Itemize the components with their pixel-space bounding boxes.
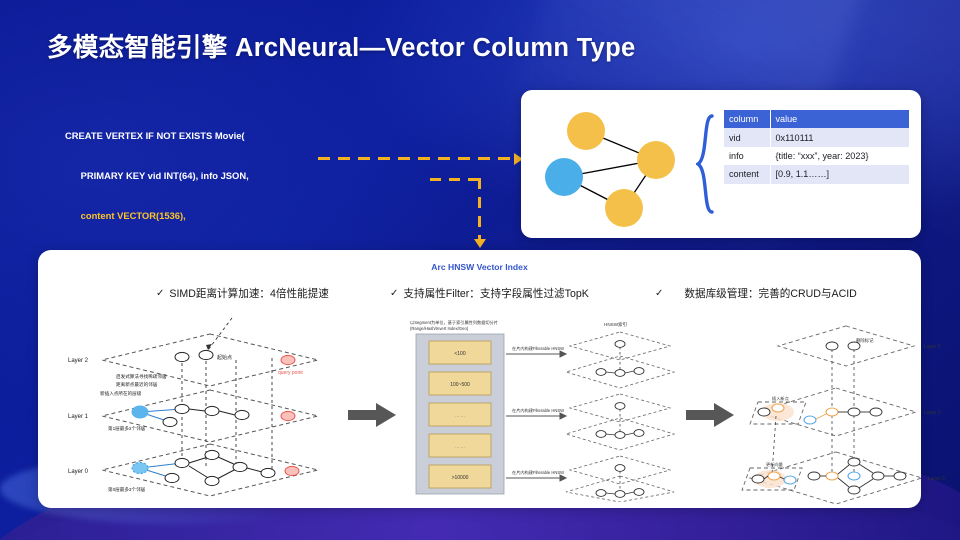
layer2-label: Layer 2	[924, 344, 941, 350]
index-label: Arc HNSW Vector Index	[38, 262, 921, 272]
dashed-arrow-down-icon	[474, 239, 486, 248]
feature-row: ✓ SIMD距离计算加速：4倍性能提速 ✓ 支持属性Filter：支持字段属性过…	[38, 286, 921, 308]
hnsw-layer-diagram-right: Layer 2 Layer 1 Layer 0 删除标记 插入新点 更新向量	[736, 316, 952, 506]
insert-level-note: 新插入点所在的层级	[100, 390, 142, 397]
insert-annotation: 插入新点	[772, 395, 789, 402]
curly-brace-icon	[696, 114, 718, 214]
sql-line-2: PRIMARY KEY vid INT(64), info JSON,	[65, 169, 249, 182]
sql-line-3: content VECTOR(1536),	[65, 209, 249, 222]
property-table: column value vid 0x110111 info {title: “…	[724, 110, 909, 184]
feature-item-management: ✓ 数据库级管理：完善的CRUD与ACID	[655, 286, 857, 301]
bucket-label: >10000	[452, 475, 469, 481]
layer1-label: Layer 1	[924, 410, 941, 416]
layer2-plane	[778, 326, 914, 366]
layer0-label: Layer 0	[68, 469, 89, 475]
layer0-label: Layer 0	[928, 476, 945, 482]
property-graph-diagram	[531, 98, 716, 230]
check-icon: ✓	[390, 288, 398, 299]
table-cell-value: {title: “xxx”, year: 2023}	[770, 147, 909, 165]
feature-item-simd: ✓ SIMD距离计算加速：4倍性能提速	[156, 286, 329, 301]
dashed-connector-branch	[430, 178, 482, 181]
start-point-annotation: 起始点	[217, 354, 232, 361]
table-header-value: value	[770, 110, 909, 128]
graph-node-blue	[545, 158, 583, 196]
table-cell-value: 0x110111	[770, 128, 909, 146]
dashed-connector-horizontal	[318, 157, 514, 160]
hnsw-index-caption: HNSW索引	[604, 321, 627, 328]
layer2-label: Layer 2	[68, 358, 89, 364]
flow-arrow-1-icon	[348, 402, 398, 428]
check-icon: ✓	[655, 288, 663, 299]
bucket-label: ... ...	[455, 413, 465, 419]
feature-label: SIMD距离计算加速：4倍性能提速	[169, 286, 329, 301]
segment-caption-line2: (Range/Hash/Invert Index/Geo)	[410, 326, 469, 331]
bucket-label: <100	[454, 351, 465, 357]
sql-line-1: CREATE VERTEX IF NOT EXISTS Movie(	[65, 129, 249, 142]
vertex-illustration-card: column value vid 0x110111 info {title: “…	[521, 90, 921, 238]
graph-node-yellow-1	[567, 112, 605, 150]
layer0-neighbor-note: 第0层最多3个邻居	[108, 486, 146, 493]
build-arrow-label: 在片内构建Filterable HNSW	[512, 469, 564, 476]
bucket-list: <100 100~500 ... ... ... ... >10000	[429, 341, 491, 488]
feature-item-filter: ✓ 支持属性Filter：支持字段属性过滤TopK	[390, 286, 589, 301]
hnsw-index-card: Arc HNSW Vector Index ✓ SIMD距离计算加速：4倍性能提…	[38, 250, 921, 508]
hnsw-layer-diagram-left: Layer 2 Layer 1 Layer 0 起始点 第1层最多2个邻居 第0…	[60, 316, 360, 502]
table-cell-key: vid	[724, 128, 770, 146]
feature-label: 数据库级管理：完善的CRUD与ACID	[684, 286, 856, 301]
build-arrows	[506, 351, 566, 481]
table-cell-key: content	[724, 165, 770, 183]
bucket-label: ... ...	[455, 444, 465, 450]
graph-node-yellow-2	[637, 141, 675, 179]
graph-node-yellow-3	[605, 189, 643, 227]
layer1-neighbor-note: 第1层最多2个邻居	[108, 425, 146, 432]
table-cell-value: [0.9, 1.1……]	[770, 165, 909, 183]
build-arrow-label: 在片内构建Filterable HNSW	[512, 345, 564, 352]
bucket-label: 100~500	[450, 382, 470, 388]
table-header-row: column value	[724, 110, 909, 128]
table-cell-key: info	[724, 147, 770, 165]
table-row: vid 0x110111	[724, 128, 909, 146]
page-title: 多模态智能引擎 ArcNeural—Vector Column Type	[47, 27, 635, 64]
nearest-neighbor-note: 距离新点最近的邻居	[116, 381, 158, 388]
update-annotation: 更新向量	[766, 461, 783, 468]
build-arrow-label: 在片内构建Filterable HNSW	[512, 407, 564, 414]
flow-arrow-2-icon	[686, 402, 736, 428]
query-point-annotation: query point	[278, 370, 303, 376]
filterable-hnsw-diagram: 以Segment为单位，基于索引属性列数据切分片 (Range/Hash/Inv…	[408, 316, 688, 502]
check-icon: ✓	[156, 288, 164, 299]
table-row: content [0.9, 1.1……]	[724, 165, 909, 183]
dashed-connector-vertical	[478, 178, 481, 240]
layer1-label: Layer 1	[68, 414, 89, 420]
segment-caption-line1: 以Segment为单位，基于索引属性列数据切分片	[410, 319, 498, 326]
table-row: info {title: “xxx”, year: 2023}	[724, 147, 909, 165]
feature-label: 支持属性Filter：支持字段属性过滤TopK	[403, 286, 588, 301]
table-header-column: column	[724, 110, 770, 128]
heuristic-note: 启发式算法寻找稀疏邻居	[116, 373, 167, 380]
delete-mark-annotation: 删除标记	[856, 337, 874, 344]
